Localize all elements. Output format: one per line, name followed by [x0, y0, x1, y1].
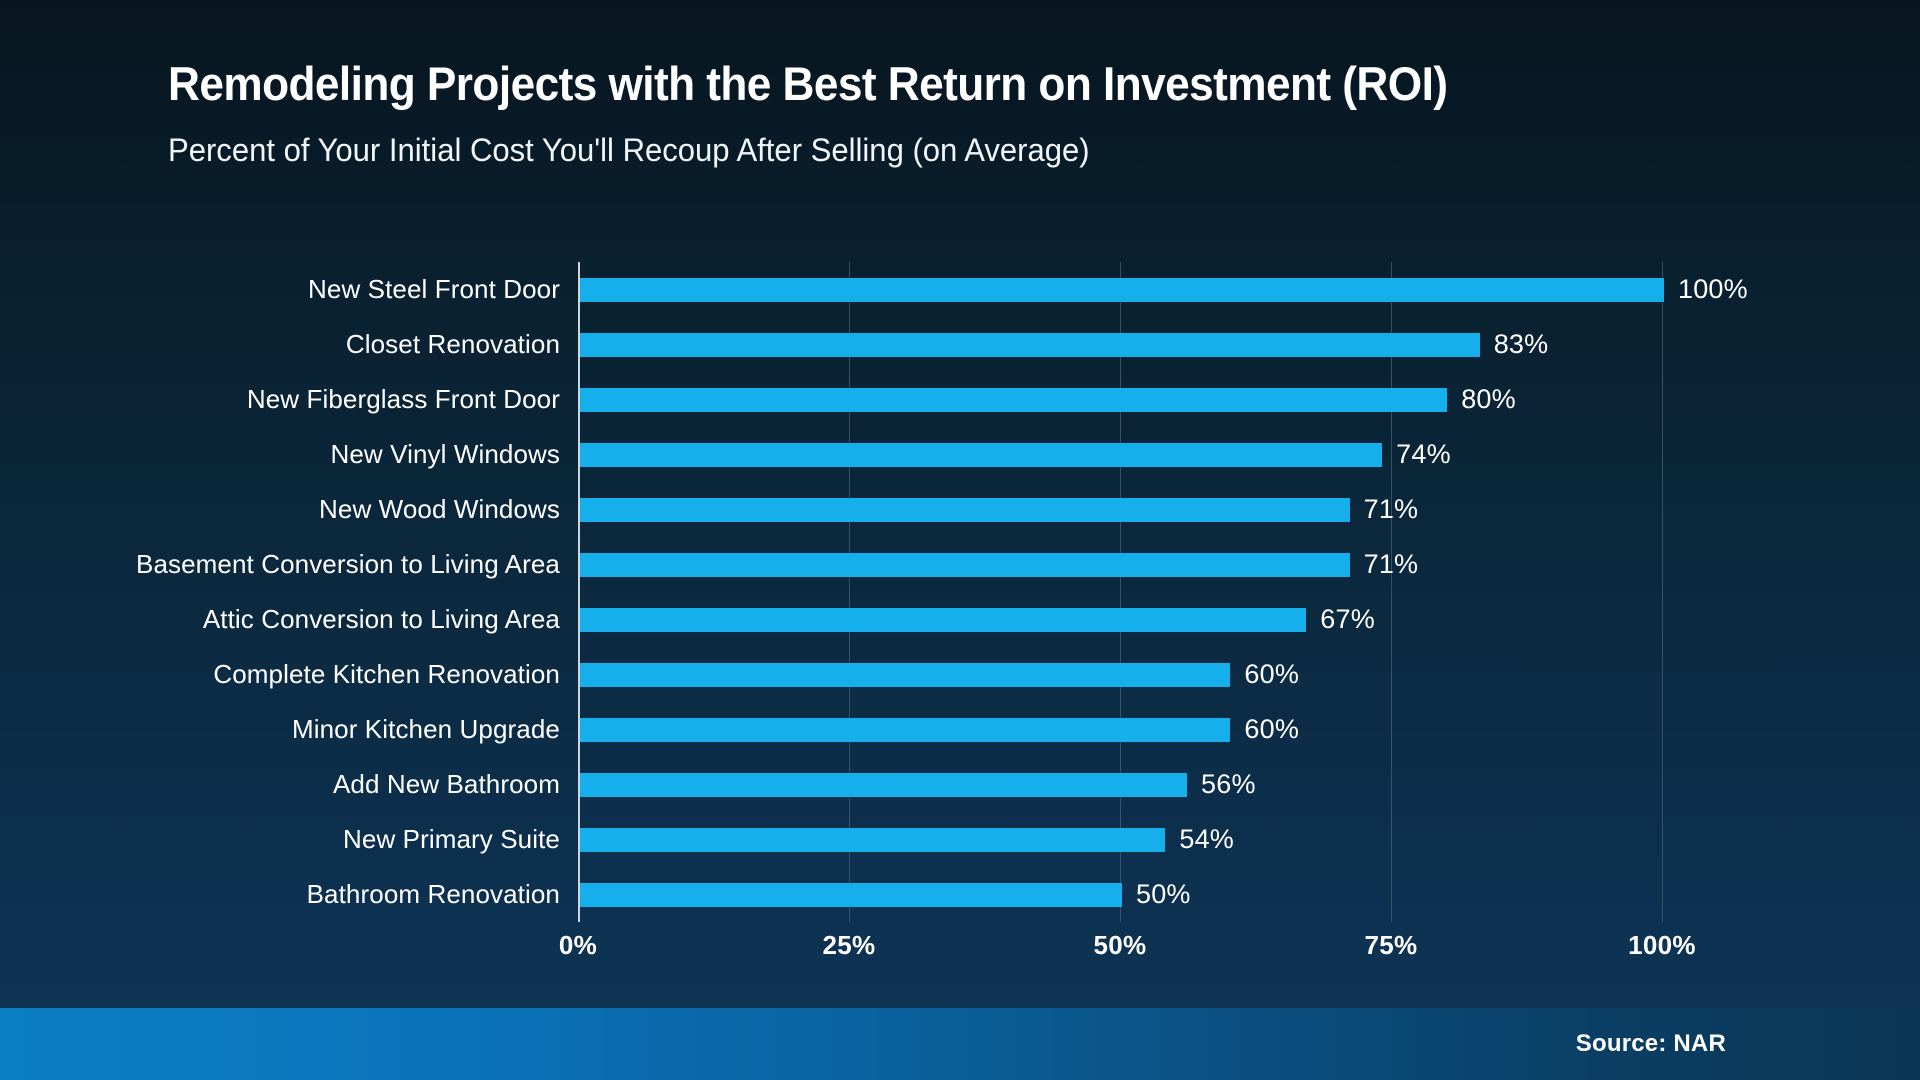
bar-container: 80% [580, 372, 1516, 427]
bar-container: 50% [580, 867, 1191, 922]
bar-value-label: 60% [1244, 659, 1299, 690]
bar-row: Bathroom Renovation50% [0, 867, 1920, 922]
bar [580, 278, 1664, 302]
bar-value-label: 67% [1320, 604, 1375, 635]
bar [580, 608, 1306, 632]
bar-value-label: 83% [1494, 329, 1549, 360]
category-label: New Vinyl Windows [0, 439, 560, 470]
bar-row: New Fiberglass Front Door80% [0, 372, 1920, 427]
x-tick-label: 75% [1365, 930, 1418, 961]
chart-header: Remodeling Projects with the Best Return… [168, 58, 1868, 168]
category-label: Minor Kitchen Upgrade [0, 714, 560, 745]
chart-plot-area: New Steel Front Door100%Closet Renovatio… [0, 262, 1920, 952]
bar-container: 71% [580, 482, 1418, 537]
x-tick-label: 0% [559, 930, 597, 961]
bar [580, 498, 1350, 522]
bar-container: 56% [580, 757, 1256, 812]
bar-container: 60% [580, 647, 1299, 702]
bar [580, 883, 1122, 907]
bar [580, 773, 1187, 797]
x-axis-ticks: 0%25%50%75%100% [0, 930, 1920, 980]
bar [580, 388, 1447, 412]
category-label: New Fiberglass Front Door [0, 384, 560, 415]
x-tick-label: 100% [1628, 930, 1696, 961]
bar-row: Attic Conversion to Living Area67% [0, 592, 1920, 647]
bar-row: New Wood Windows71% [0, 482, 1920, 537]
bar-value-label: 71% [1364, 549, 1419, 580]
bar-row: Add New Bathroom56% [0, 757, 1920, 812]
x-tick-label: 25% [823, 930, 876, 961]
bar [580, 333, 1480, 357]
bar-container: 74% [580, 427, 1451, 482]
category-label: New Primary Suite [0, 824, 560, 855]
category-label: Complete Kitchen Renovation [0, 659, 560, 690]
bar-row: New Primary Suite54% [0, 812, 1920, 867]
bar-value-label: 50% [1136, 879, 1191, 910]
bar-row: New Steel Front Door100% [0, 262, 1920, 317]
bar-container: 83% [580, 317, 1548, 372]
bar-value-label: 100% [1678, 274, 1748, 305]
bar-container: 60% [580, 702, 1299, 757]
bar [580, 663, 1230, 687]
bar-value-label: 74% [1396, 439, 1451, 470]
category-label: Basement Conversion to Living Area [0, 549, 560, 580]
category-label: Bathroom Renovation [0, 879, 560, 910]
bar-value-label: 56% [1201, 769, 1256, 800]
bar-container: 100% [580, 262, 1748, 317]
bar [580, 718, 1230, 742]
chart-subtitle: Percent of Your Initial Cost You'll Reco… [168, 132, 1817, 169]
category-label: Closet Renovation [0, 329, 560, 360]
bar-row: New Vinyl Windows74% [0, 427, 1920, 482]
bar-rows: New Steel Front Door100%Closet Renovatio… [0, 262, 1920, 922]
bar-value-label: 54% [1179, 824, 1234, 855]
bar [580, 443, 1382, 467]
footer-bar: Source: NAR [0, 1008, 1920, 1080]
page-title: Remodeling Projects with the Best Return… [168, 58, 1766, 110]
category-label: New Wood Windows [0, 494, 560, 525]
bar-row: Minor Kitchen Upgrade60% [0, 702, 1920, 757]
bar [580, 828, 1165, 852]
bar-container: 54% [580, 812, 1234, 867]
bar-row: Basement Conversion to Living Area71% [0, 537, 1920, 592]
source-label: Source: NAR [1576, 1030, 1726, 1058]
category-label: Add New Bathroom [0, 769, 560, 800]
x-tick-label: 50% [1094, 930, 1147, 961]
bar-row: Closet Renovation83% [0, 317, 1920, 372]
bar-value-label: 80% [1461, 384, 1516, 415]
bar-value-label: 71% [1364, 494, 1419, 525]
category-label: Attic Conversion to Living Area [0, 604, 560, 635]
bar [580, 553, 1350, 577]
category-label: New Steel Front Door [0, 274, 560, 305]
bar-row: Complete Kitchen Renovation60% [0, 647, 1920, 702]
bar-container: 71% [580, 537, 1418, 592]
bar-container: 67% [580, 592, 1375, 647]
bar-value-label: 60% [1244, 714, 1299, 745]
